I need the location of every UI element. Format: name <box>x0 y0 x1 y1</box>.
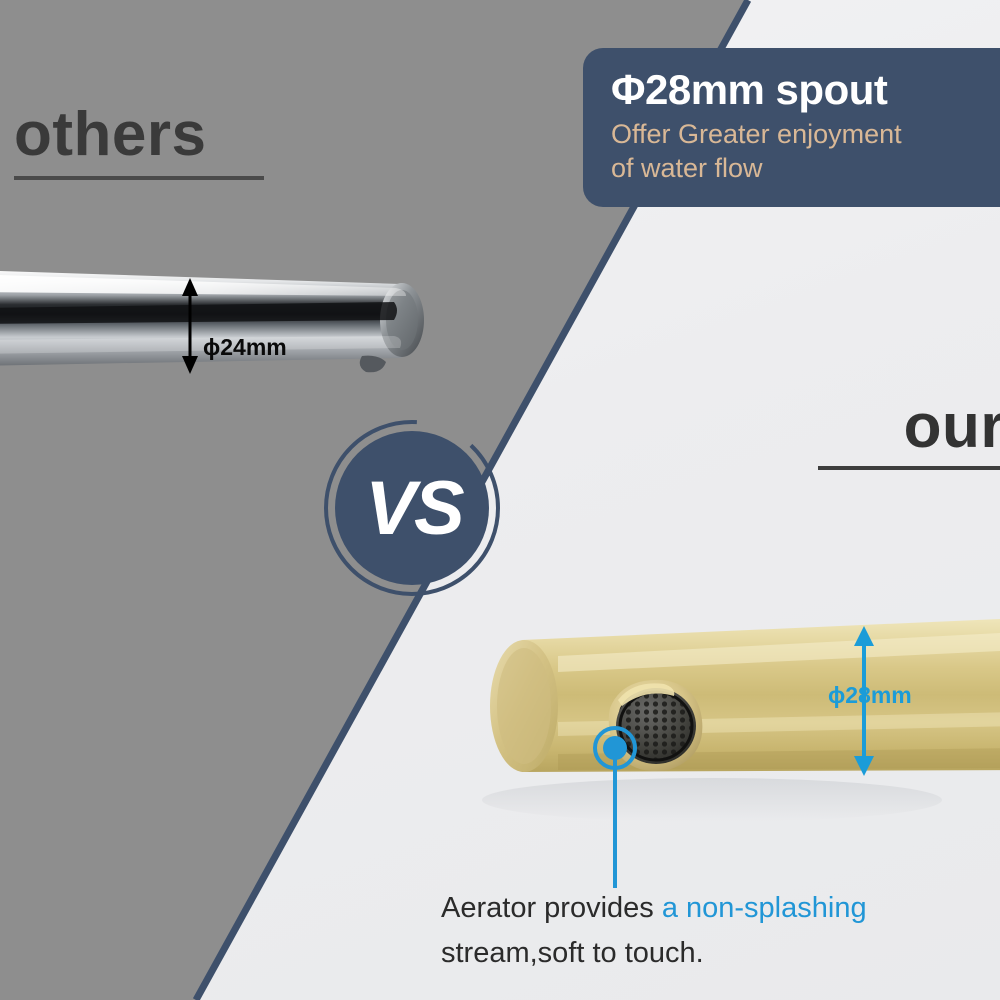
aerator-caption: Aerator provides a non-splashing stream,… <box>441 886 961 976</box>
label-ours-text: ours <box>760 396 1000 458</box>
label-others-underline <box>14 176 264 180</box>
spout-callout-box: Φ28mm spout Offer Greater enjoyment of w… <box>583 48 1000 207</box>
caption-part2: stream,soft to touch. <box>441 937 704 969</box>
vs-badge-text: VS <box>322 418 502 598</box>
caption-part1: Aerator provides <box>441 892 662 924</box>
callout-subtitle-line2: of water flow <box>611 151 999 185</box>
dimension-24-label: ϕ24mm <box>203 334 287 361</box>
label-ours-underline <box>818 466 1000 470</box>
vs-badge: VS <box>322 418 502 598</box>
caption-highlight: a non-splashing <box>662 892 867 924</box>
dimension-28-label: ϕ28mm <box>828 682 912 709</box>
dimension-24mm: ϕ24mm <box>176 278 326 374</box>
comparison-infographic: ϕ24mm <box>0 0 1000 1000</box>
label-ours: ours <box>760 396 1000 470</box>
label-others-text: others <box>14 104 274 166</box>
label-others: others <box>14 104 274 180</box>
callout-subtitle-line1: Offer Greater enjoyment <box>611 117 999 151</box>
aerator-callout-marker <box>560 720 680 900</box>
callout-title: Φ28mm spout <box>611 66 999 113</box>
dimension-28mm: ϕ28mm <box>822 626 962 776</box>
